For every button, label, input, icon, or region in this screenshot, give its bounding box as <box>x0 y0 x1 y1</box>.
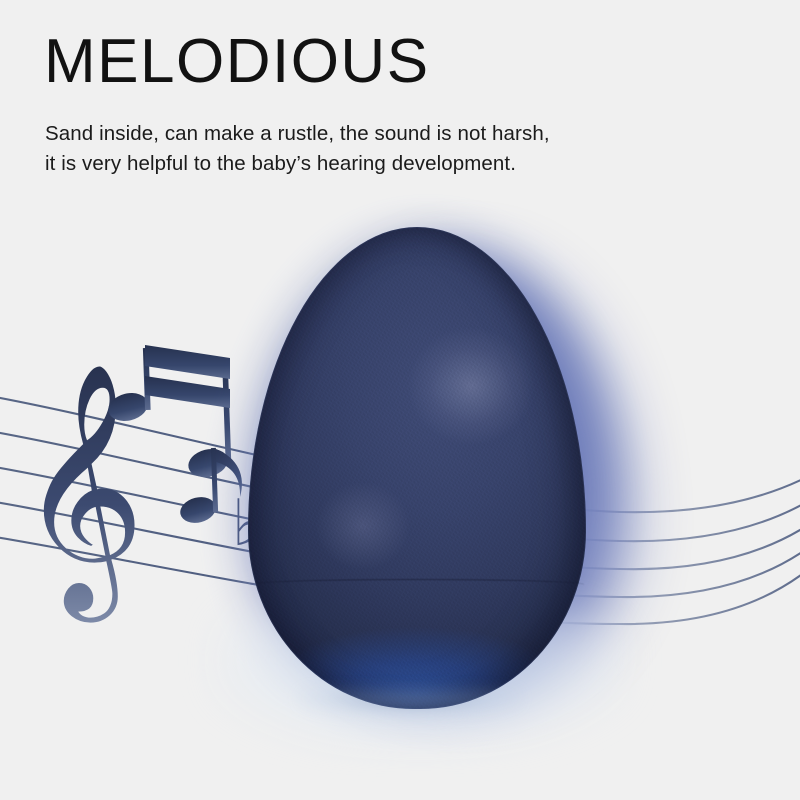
product-image-egg-shaker <box>248 227 586 709</box>
egg-edge-rim <box>248 227 586 709</box>
marketing-banner: MELODIOUS Sand inside, can make a rustle… <box>0 0 800 800</box>
egg-seam-line <box>250 579 584 590</box>
egg-contact-shadow <box>300 690 520 716</box>
